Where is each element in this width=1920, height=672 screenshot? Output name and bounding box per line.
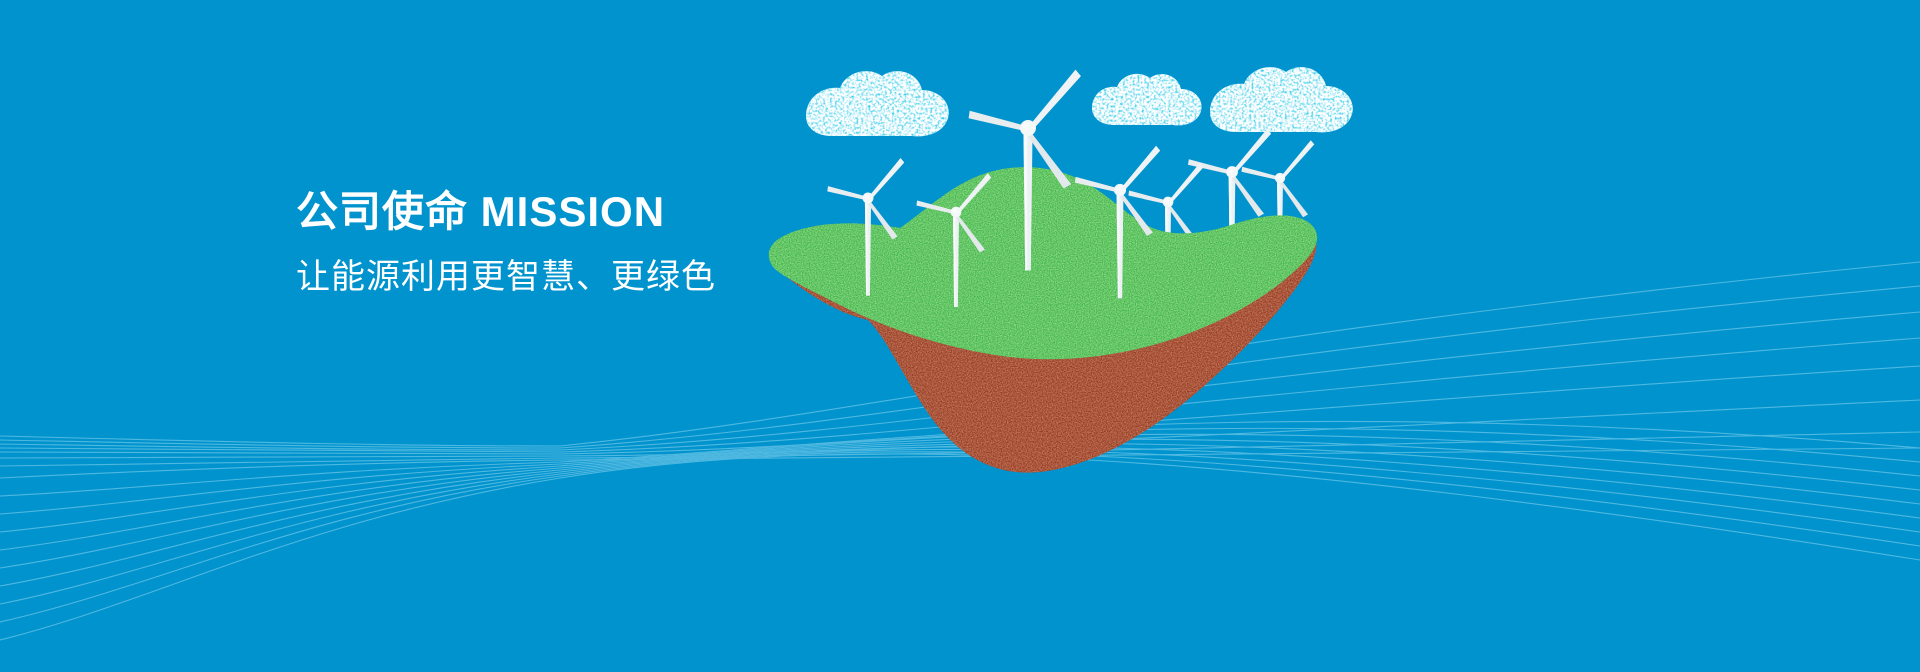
mission-banner: 公司使命 MISSION 让能源利用更智慧、更绿色 <box>0 0 1920 672</box>
mission-text-block: 公司使命 MISSION 让能源利用更智慧、更绿色 <box>296 186 916 299</box>
cloud-middle <box>1092 74 1202 126</box>
cloud-left <box>806 71 949 136</box>
page-title: 公司使命 MISSION <box>296 186 916 237</box>
mission-slogan: 让能源利用更智慧、更绿色 <box>296 255 916 299</box>
cloud-right <box>1210 67 1353 132</box>
